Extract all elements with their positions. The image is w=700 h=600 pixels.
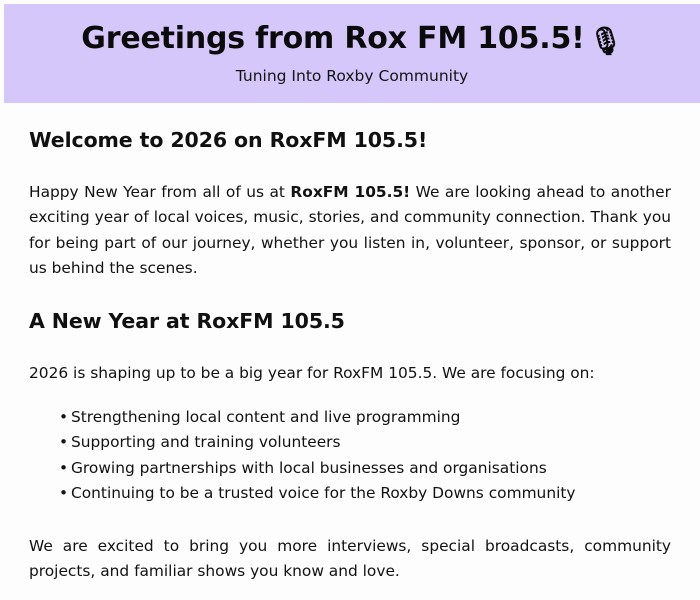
studio-microphone-icon: 🎙	[589, 26, 623, 57]
paragraph-focus-intro: 2026 is shaping up to be a big year for …	[29, 334, 671, 387]
page-title-text: Greetings from Rox FM 105.5!	[81, 21, 584, 56]
focus-list: Strengthening local content and live pro…	[29, 387, 671, 507]
paragraph-welcome-part1: Happy New Year from all of us at	[29, 183, 290, 201]
heading-new-year: A New Year at RoxFM 105.5	[29, 282, 671, 335]
page-subtitle: Tuning Into Roxby Community	[4, 58, 700, 86]
article-body: Welcome to 2026 on RoxFM 105.5! Happy Ne…	[0, 103, 700, 585]
station-name-emphasis: RoxFM 105.5!	[290, 183, 410, 201]
list-item: Supporting and training volunteers	[59, 430, 671, 456]
list-item: Continuing to be a trusted voice for the…	[59, 481, 671, 507]
paragraph-welcome: Happy New Year from all of us at RoxFM 1…	[29, 154, 671, 282]
list-item: Strengthening local content and live pro…	[59, 405, 671, 431]
list-item: Growing partnerships with local business…	[59, 456, 671, 482]
header-banner: Greetings from Rox FM 105.5!🎙 Tuning Int…	[4, 4, 700, 103]
newsletter-page: Greetings from Rox FM 105.5!🎙 Tuning Int…	[0, 0, 700, 600]
paragraph-closing: We are excited to bring you more intervi…	[29, 507, 671, 585]
page-title: Greetings from Rox FM 105.5!🎙	[4, 4, 700, 58]
heading-welcome: Welcome to 2026 on RoxFM 105.5!	[29, 103, 671, 154]
